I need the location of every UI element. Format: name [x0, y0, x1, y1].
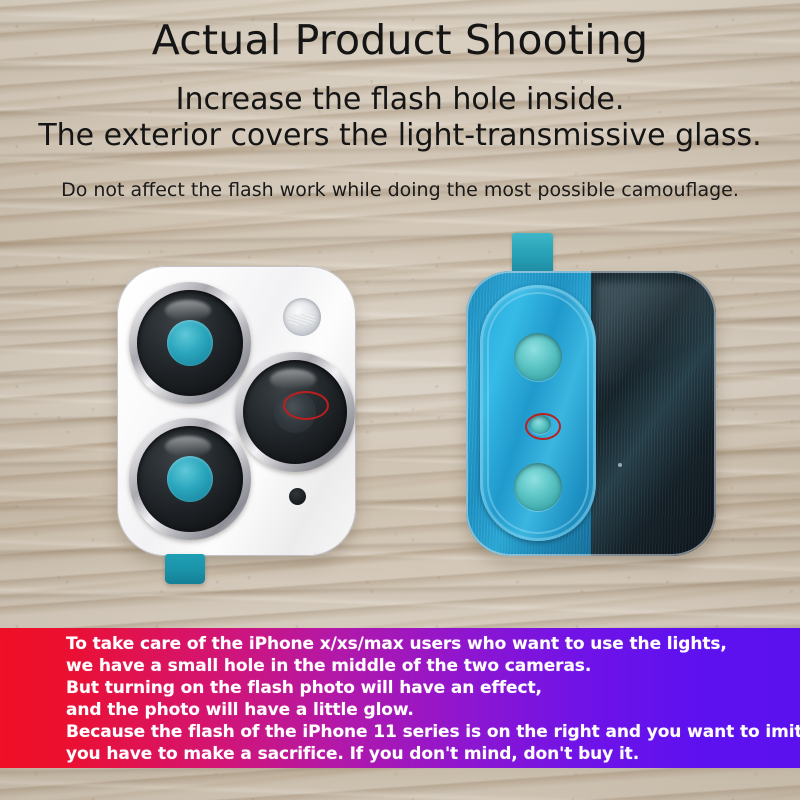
banner-line: Because the flash of the iPhone 11 serie…: [66, 721, 794, 743]
page-title: Actual Product Shooting: [0, 16, 800, 64]
banner-line: To take care of the iPhone x/xs/max user…: [66, 633, 794, 655]
banner-line: and the photo will have a little glow.: [66, 699, 794, 721]
dust-speck: [618, 463, 622, 467]
lens-glass-teal-top-left: [167, 320, 214, 367]
white-module-adhesive-tab: [165, 554, 205, 584]
lens-inner-bottom-left: [137, 426, 243, 532]
lens-ring-bottom-left: [129, 418, 251, 540]
lens-highlight-middle-right: [270, 369, 316, 390]
annotation-ellipse-left-flash-hole: [283, 391, 329, 420]
banner-text-block: To take care of the iPhone x/xs/max user…: [66, 633, 794, 765]
product-photo-blue-lens-module: [466, 271, 716, 556]
flash-lamp-icon: [283, 298, 321, 336]
blue-oval-lens-pad: [480, 285, 596, 541]
bottom-disclaimer-banner: To take care of the iPhone x/xs/max user…: [0, 628, 800, 768]
blue-module-adhesive-tab: [512, 233, 553, 273]
lens-highlight-bottom-left: [165, 436, 212, 457]
lens-hole-bottom: [514, 463, 562, 511]
banner-line: But turning on the flash photo will have…: [66, 677, 794, 699]
lens-hole-top: [514, 333, 562, 381]
subtitle-line-1: Increase the flash hole inside.: [0, 82, 800, 118]
microphone-hole-icon: [289, 488, 306, 505]
lens-highlight-top-left: [165, 300, 212, 321]
banner-line: you have to make a sacrifice. If you don…: [66, 743, 794, 765]
lens-ring-top-left: [129, 282, 251, 404]
lens-inner-top-left: [137, 290, 243, 396]
product-photo-white-lens-cover: [117, 266, 356, 556]
product-marketing-image: Actual Product Shooting Increase the fla…: [0, 0, 800, 800]
subtitle-line-2: The exterior covers the light-transmissi…: [0, 118, 800, 154]
banner-line: we have a small hole in the middle of th…: [66, 655, 794, 677]
lens-glass-teal-bottom-left: [167, 456, 214, 503]
annotation-ellipse-right-flash-hole: [525, 413, 561, 440]
caption-text: Do not affect the flash work while doing…: [0, 177, 800, 203]
